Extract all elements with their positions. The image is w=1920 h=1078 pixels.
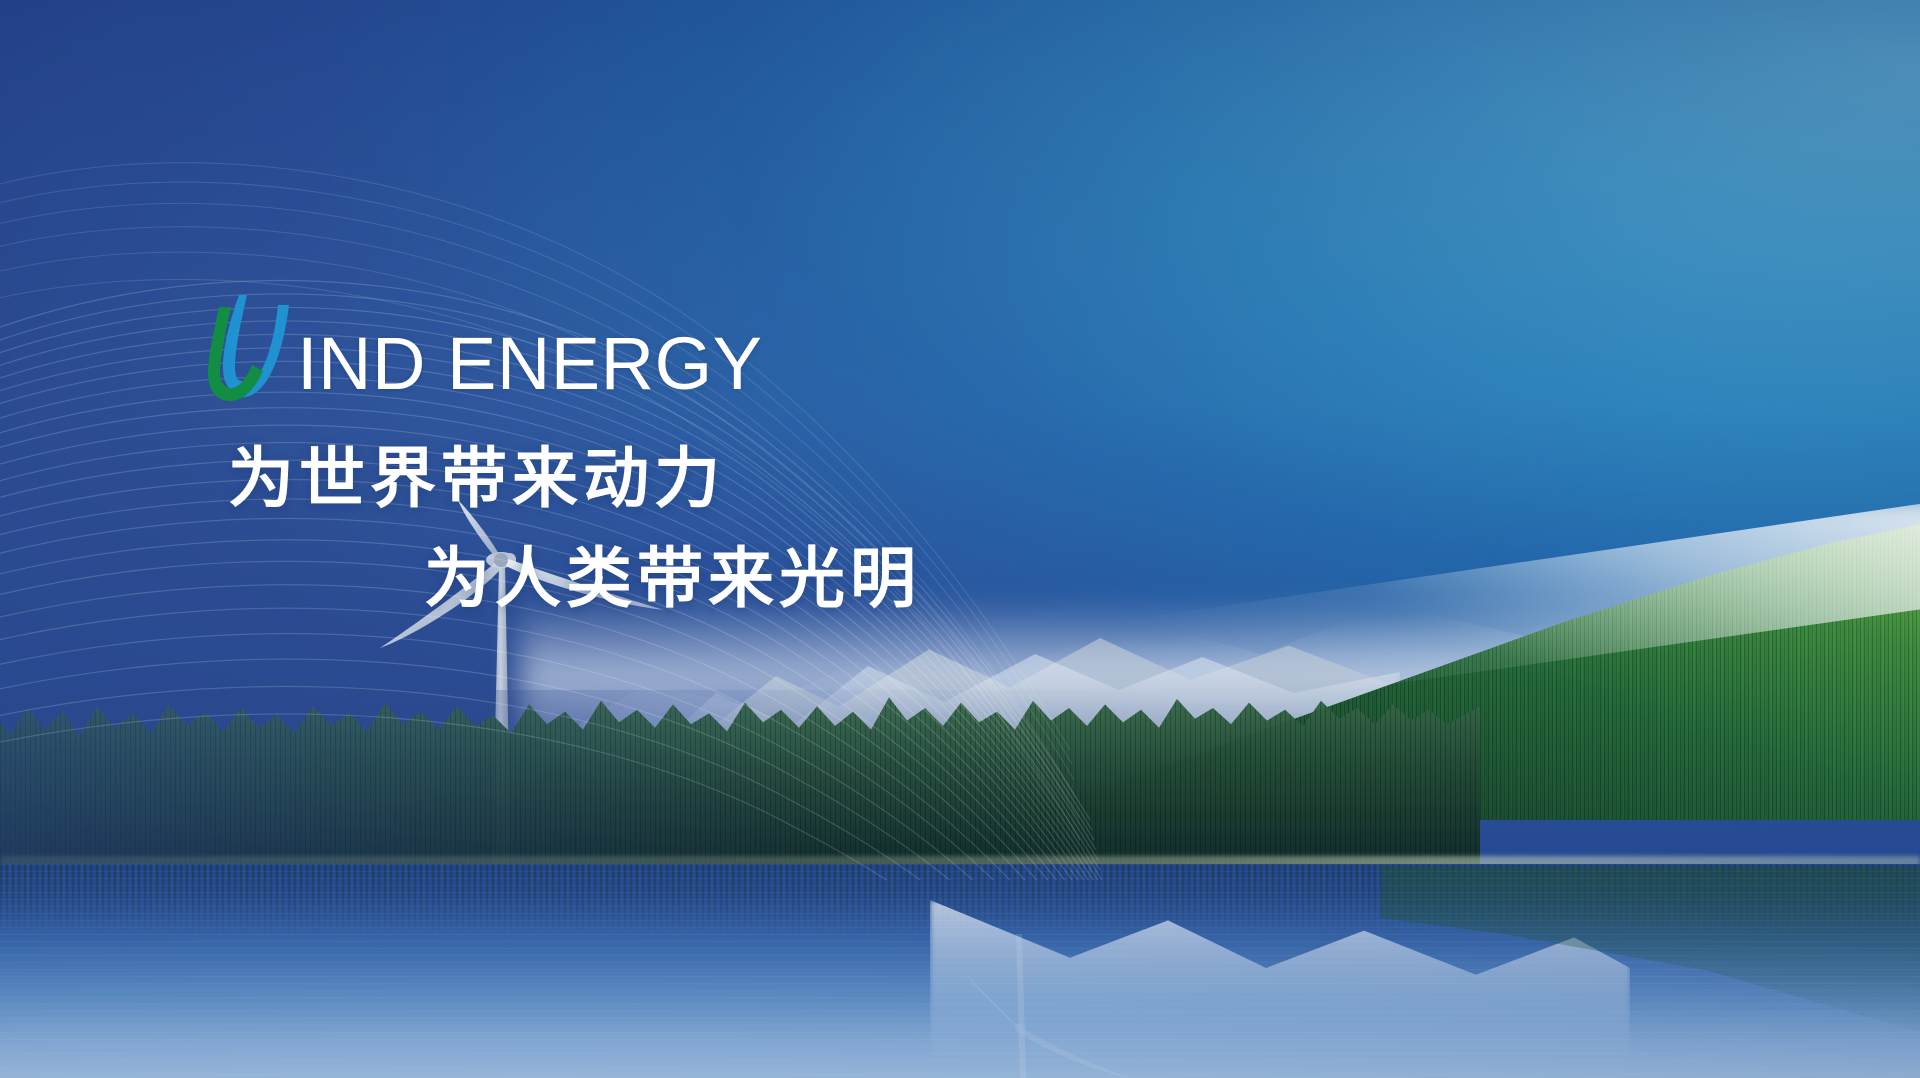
brand-lockup: IND ENERGY xyxy=(197,293,763,403)
headline-line-2: 为人类带来光明 xyxy=(228,528,921,628)
hero-content: IND ENERGY 为世界带来动力 为人类带来光明 xyxy=(0,0,1920,1078)
wind-swoosh-logo-icon xyxy=(197,293,301,409)
headline-block: 为世界带来动力 为人类带来光明 xyxy=(228,428,921,628)
hero-banner: IND ENERGY 为世界带来动力 为人类带来光明 xyxy=(0,0,1920,1078)
headline-line-1: 为世界带来动力 xyxy=(228,428,921,528)
brand-name-text: IND ENERGY xyxy=(297,325,763,403)
